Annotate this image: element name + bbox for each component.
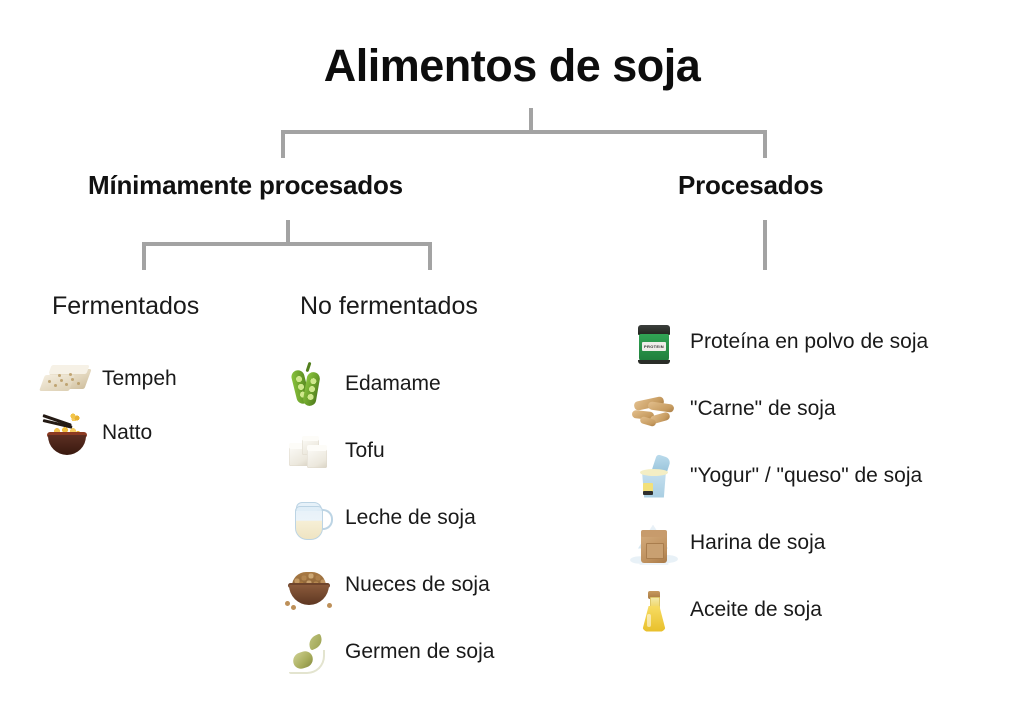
soy-meat-chunks-icon [628,383,680,435]
connector-title-stem [529,108,533,132]
list-item-tofu[interactable]: Tofu [283,417,494,484]
connector-drop-processed [763,130,767,158]
list-fermented: Tempeh Natto [40,352,177,460]
connector-drop-non-fermented [428,242,432,270]
connector-title-bar [281,130,767,134]
sprout-icon [283,626,335,678]
list-item-soy-yogurt-cheese[interactable]: "Yogur" / "queso" de soja [628,442,928,509]
list-item-soy-nuts[interactable]: Nueces de soja [283,551,494,618]
protein-tub-label-text: PROTEIN [642,342,666,351]
protein-tub-icon: PROTEIN [628,316,680,368]
list-item-soy-sprouts[interactable]: Germen de soja [283,618,494,685]
list-item-label: Nueces de soja [345,573,490,597]
tempeh-icon [40,353,92,405]
oil-bottle-icon [628,584,680,636]
list-item-label: Proteína en polvo de soja [690,330,928,354]
heading-non-fermented: No fermentados [300,292,478,321]
connector-minimally-stem [286,220,290,244]
list-item-soy-flour[interactable]: Harina de soja [628,509,928,576]
list-item-natto[interactable]: Natto [40,406,177,460]
list-item-soy-oil[interactable]: Aceite de soja [628,576,928,643]
list-item-label: Natto [102,421,152,445]
page-title: Alimentos de soja [0,40,1024,92]
connector-minimally-bar [142,242,432,246]
list-item-soy-protein-powder[interactable]: PROTEIN Proteína en polvo de soja [628,308,928,375]
list-item-soy-milk[interactable]: Leche de soja [283,484,494,551]
list-non-fermented: Edamame Tofu Leche de soja Nuece [283,350,494,685]
list-item-label: Aceite de soja [690,598,822,622]
list-item-label: Germen de soja [345,640,494,664]
list-processed: PROTEIN Proteína en polvo de soja "Carne… [628,308,928,643]
yogurt-cup-icon [628,450,680,502]
list-item-label: Tempeh [102,367,177,391]
connector-processed-stem [763,220,767,270]
connector-drop-minimally-processed [281,130,285,158]
flour-bag-icon [628,517,680,569]
list-item-label: Tofu [345,439,385,463]
milk-pitcher-icon [283,492,335,544]
natto-bowl-icon [40,407,92,459]
connector-drop-fermented [142,242,146,270]
heading-fermented: Fermentados [52,292,199,321]
tofu-cubes-icon [283,425,335,477]
heading-minimally-processed: Mínimamente procesados [88,170,403,201]
list-item-label: "Carne" de soja [690,397,836,421]
edamame-pods-icon [283,358,335,410]
list-item-label: Leche de soja [345,506,476,530]
heading-processed: Procesados [678,170,823,201]
list-item-label: Harina de soja [690,531,825,555]
list-item-label: "Yogur" / "queso" de soja [690,464,922,488]
list-item-tempeh[interactable]: Tempeh [40,352,177,406]
nut-bowl-icon [283,559,335,611]
list-item-soy-meat[interactable]: "Carne" de soja [628,375,928,442]
list-item-edamame[interactable]: Edamame [283,350,494,417]
list-item-label: Edamame [345,372,441,396]
